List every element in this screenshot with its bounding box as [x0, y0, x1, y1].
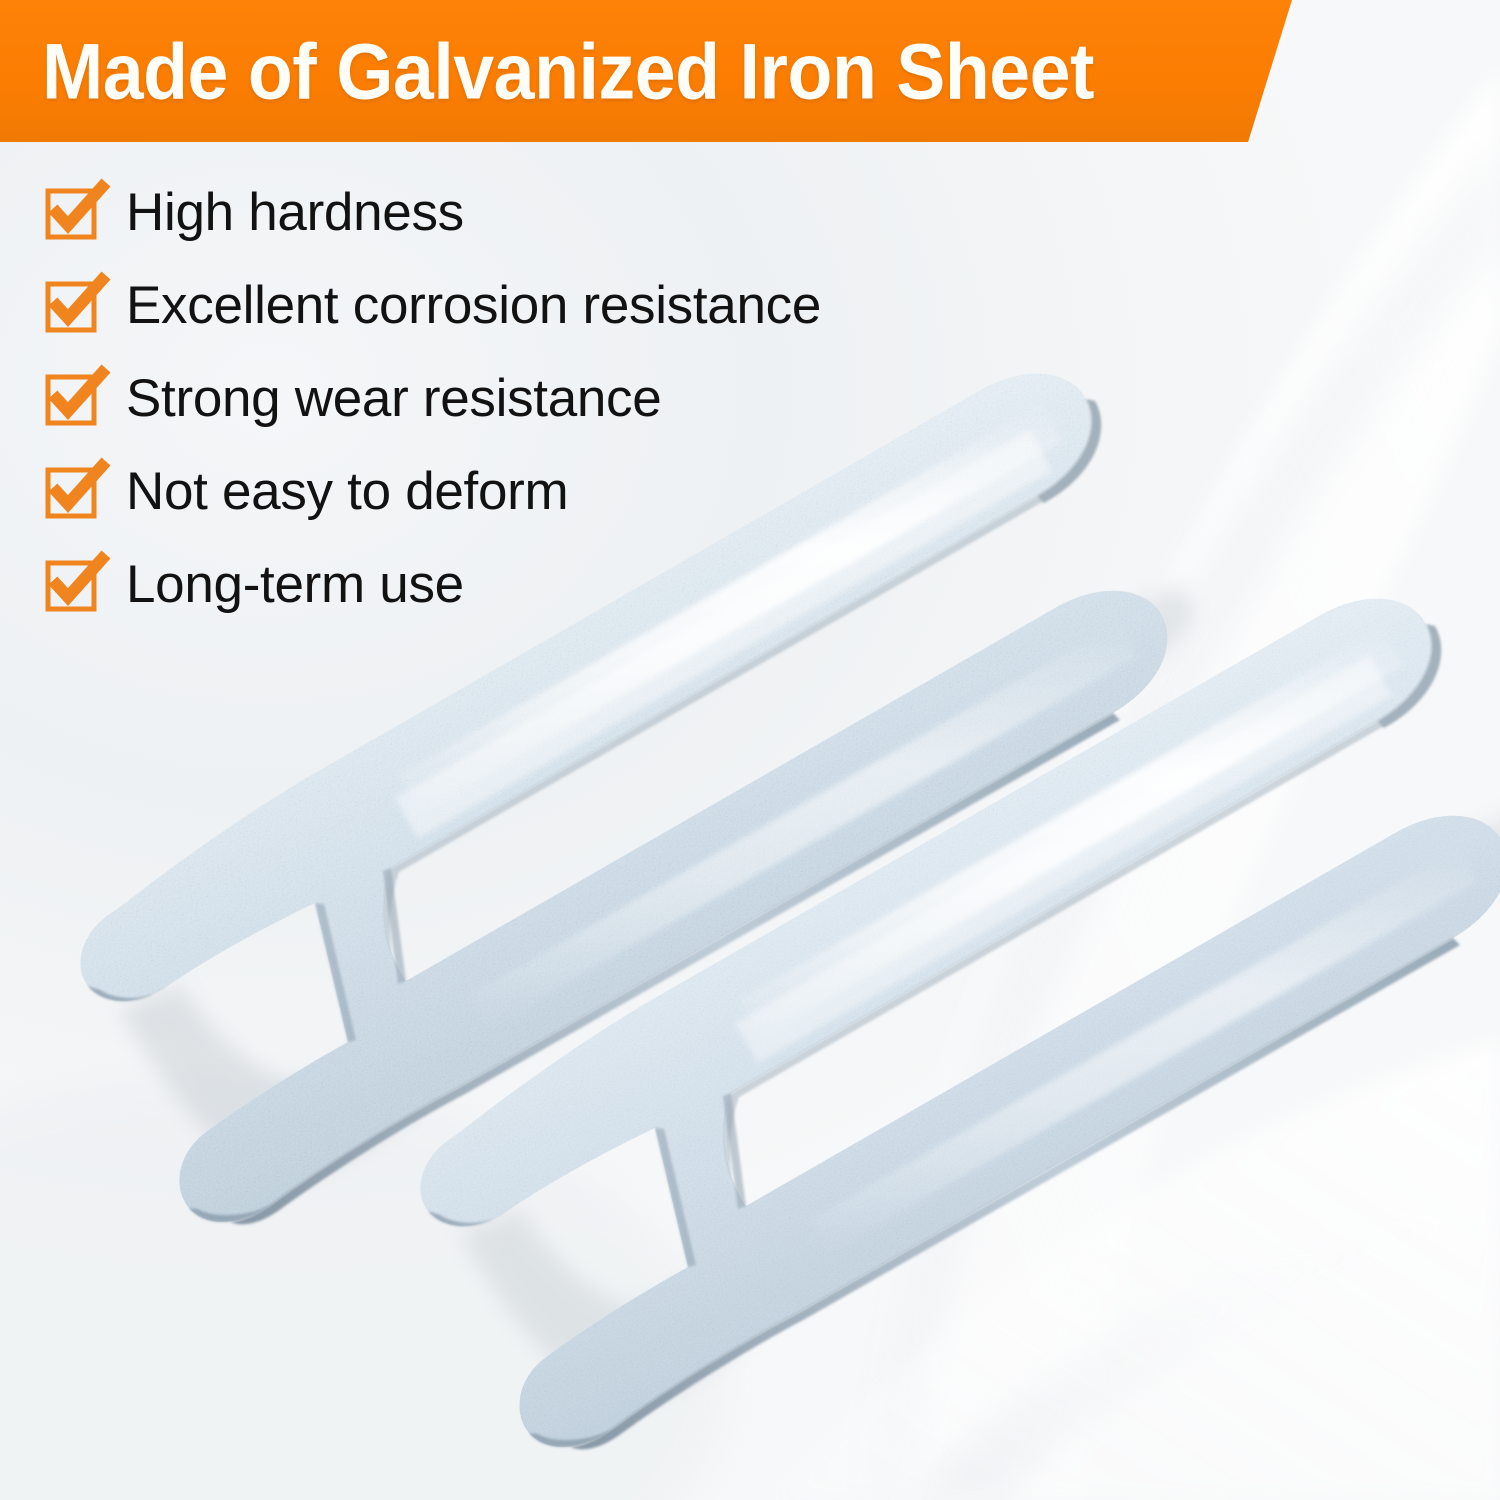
product-feature-image: Made of Galvanized Iron Sheet High hardn… [0, 0, 1500, 1500]
product-photo-wrenches [0, 0, 1500, 1500]
